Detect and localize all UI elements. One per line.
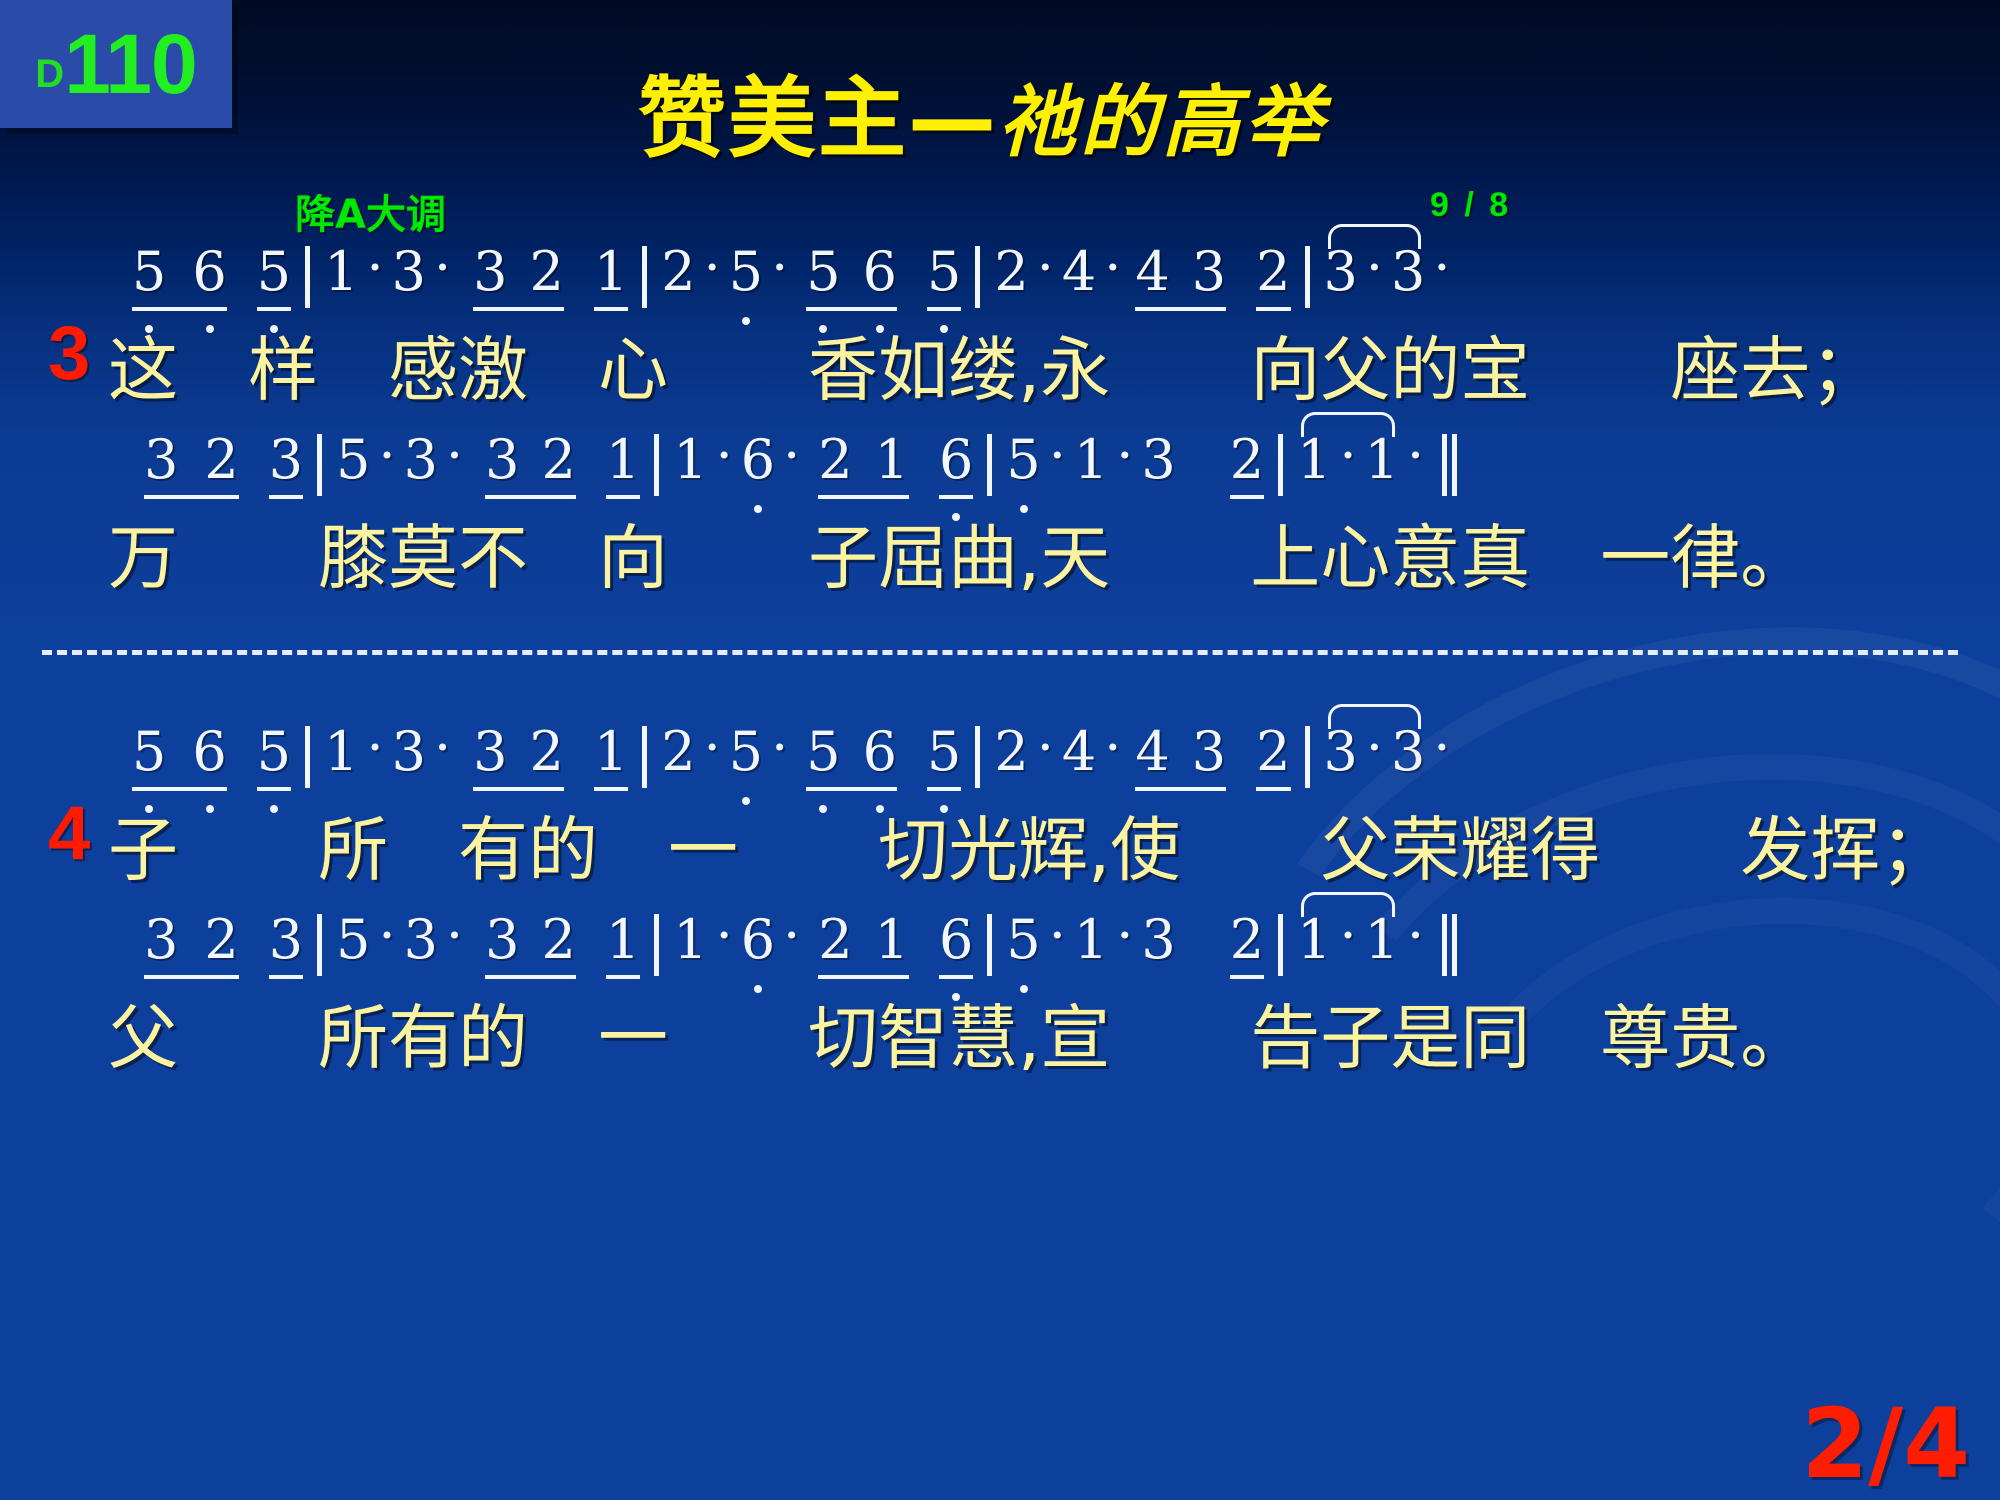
note-group: 3 [267, 908, 305, 971]
barline [1305, 726, 1310, 788]
note-group: 1 [604, 428, 642, 491]
verse-number: 3 [48, 310, 90, 397]
barline [305, 246, 310, 308]
music-system-verse-4: 56 5 1·3· 32 1 2·5· 56 5 2·4· 43 2 3·3· [0, 720, 2000, 1090]
note-group: 32 [483, 428, 578, 491]
lyric-line: 4 子 所 有的 一 切光辉,使 父荣耀得 发挥； [0, 794, 2000, 902]
hymn-number-badge: D 110 [0, 0, 232, 128]
tie-slur: 1·1 [1295, 428, 1401, 491]
barline [654, 434, 659, 496]
hymn-number-value: 110 [64, 22, 197, 106]
note-group: 32 [483, 908, 578, 971]
tie-slur: 1·1 [1295, 908, 1401, 971]
note-group: 6 [937, 428, 975, 491]
note-group: 1 [592, 720, 630, 783]
barline [975, 246, 980, 308]
lyric-line: 父 所有的 一 切智慧,宣 告子是同 尊贵。 [0, 982, 2000, 1090]
note-group: 2 [1228, 428, 1266, 491]
hymn-number-prefix: D [35, 54, 64, 94]
note-group: 32 [142, 908, 241, 971]
note-group: 32 [142, 428, 241, 491]
note-group: 56 [804, 720, 899, 783]
verse-number: 4 [48, 790, 90, 877]
page-title: 赞美主—祂的高举 [232, 48, 1732, 175]
note-group: 3 [267, 428, 305, 491]
barline [317, 914, 322, 976]
note-group: 1 [604, 908, 642, 971]
note-group: 5 [925, 240, 963, 303]
notation-line: 56 5 1·3· 32 1 2·5· 56 5 2·4· 43 2 3·3· [0, 240, 2000, 314]
note-group: 2 [1254, 240, 1292, 303]
note-group: 5 [255, 240, 293, 303]
note-group: 43 [1133, 720, 1228, 783]
notation-line: 56 5 1·3· 32 1 2·5· 56 5 2·4· 43 2 3·3· [0, 720, 2000, 794]
note-group: 21 [816, 908, 911, 971]
section-divider [42, 650, 1958, 655]
notation-line: 32 3 5·3· 32 1 1·6· 21 6 5·1·3 2 1·1· [0, 428, 2000, 502]
barline [1278, 914, 1283, 976]
note-group: 56 [804, 240, 899, 303]
lyric-text: 万 膝莫不 向 子屈曲,天 上心意真 一律。 [108, 502, 1810, 603]
note-group: 21 [816, 428, 911, 491]
note-group: 2 [1254, 720, 1292, 783]
note-group: 32 [471, 240, 566, 303]
note-group: 1 [592, 240, 630, 303]
note-group: 56 [130, 720, 229, 783]
notation-line: 32 3 5·3· 32 1 1·6· 21 6 5·1·3 2 1·1· [0, 908, 2000, 982]
barline [642, 726, 647, 788]
barline [317, 434, 322, 496]
note-group: 32 [471, 720, 566, 783]
barline [987, 914, 992, 976]
barline [642, 246, 647, 308]
barline [987, 434, 992, 496]
slide-canvas: D 110 赞美主—祂的高举 降A大调 9 / 8 56 5 1·3· 32 1… [0, 0, 2000, 1500]
time-signature: 9 / 8 [1430, 186, 1511, 225]
key-signature: 降A大调 [295, 182, 446, 240]
title-sub: 祂的高举 [998, 77, 1326, 168]
lyric-line: 3 这 样 感激 心 香如缕,永 向父的宝 座去； [0, 314, 2000, 422]
note-group: 5 [255, 720, 293, 783]
note-group: 56 [130, 240, 229, 303]
music-system-verse-3: 56 5 1·3· 32 1 2·5· 56 5 2·4· 43 2 3·3· [0, 240, 2000, 610]
barline [654, 914, 659, 976]
note-group: 2 [1228, 908, 1266, 971]
barline [975, 726, 980, 788]
note-group: 6 [937, 908, 975, 971]
tie-slur: 3·3 [1322, 720, 1428, 783]
lyric-text: 父 所有的 一 切智慧,宣 告子是同 尊贵。 [108, 982, 1810, 1083]
barline [305, 726, 310, 788]
lyric-line: 万 膝莫不 向 子屈曲,天 上心意真 一律。 [0, 502, 2000, 610]
lyric-text: 这 样 感激 心 香如缕,永 向父的宝 座去； [108, 314, 1880, 415]
barline [1305, 246, 1310, 308]
title-main: 赞美主— [638, 67, 998, 170]
tie-slur: 3·3 [1322, 240, 1428, 303]
barline [1278, 434, 1283, 496]
page-indicator: 2/4 [1801, 1396, 1970, 1492]
note-group: 5 [925, 720, 963, 783]
lyric-text: 子 所 有的 一 切光辉,使 父荣耀得 发挥； [108, 794, 1950, 895]
note-group: 43 [1133, 240, 1228, 303]
final-barline [1442, 434, 1462, 509]
final-barline [1442, 914, 1462, 989]
